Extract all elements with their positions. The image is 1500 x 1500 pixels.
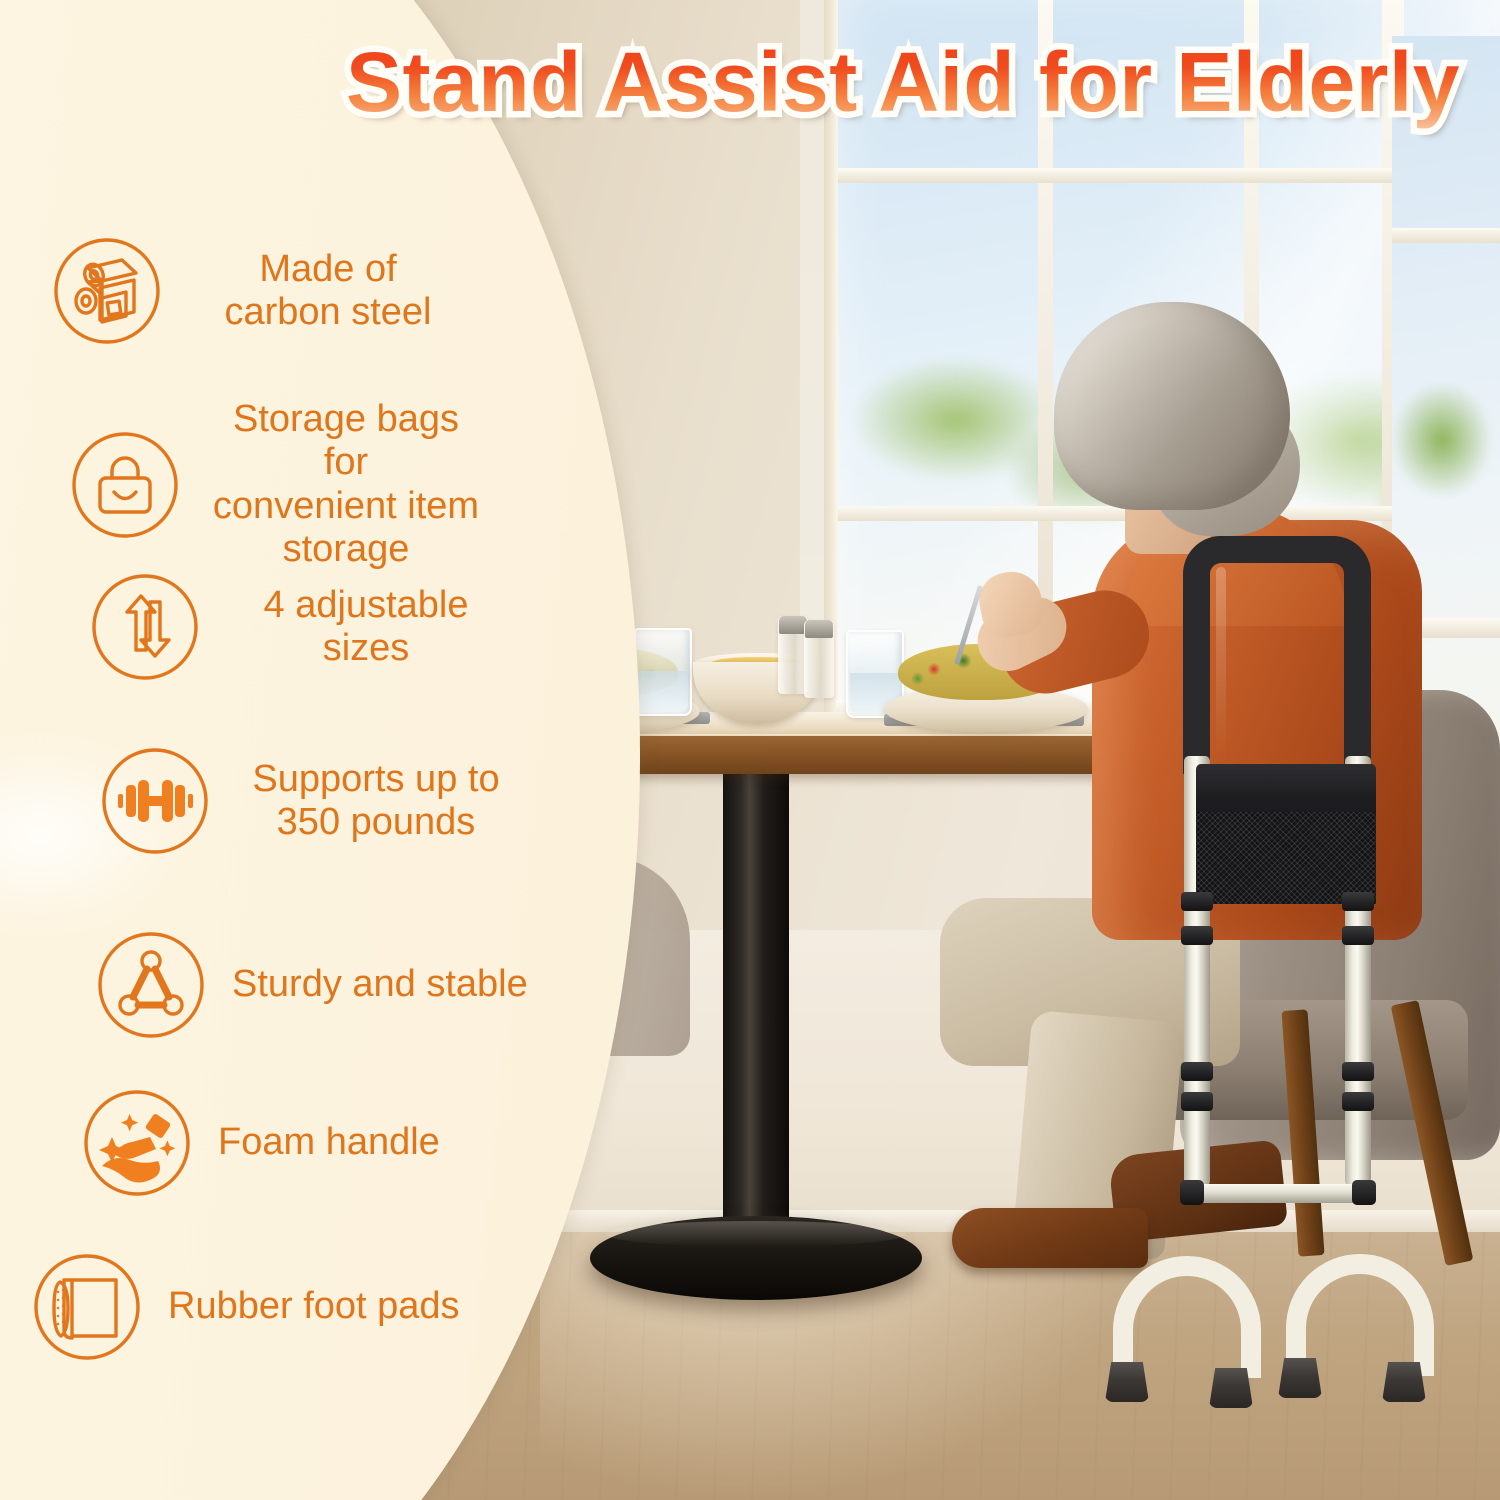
device-foam-handle <box>1183 536 1371 774</box>
device-clamp <box>1181 1062 1213 1081</box>
feature-item: Sturdy and stable <box>92 926 552 1044</box>
feature-item: Storage bags forconvenient itemstorage <box>66 398 486 571</box>
foam-hand-icon <box>78 1084 196 1202</box>
feature-label: Rubber foot pads <box>146 1285 498 1328</box>
device-clamp <box>1181 1092 1213 1111</box>
feature-label: Storage bags forconvenient itemstorage <box>184 398 486 571</box>
table-column <box>723 772 789 1242</box>
device-crossbar-joint <box>1352 1180 1376 1205</box>
feature-label: 4 adjustablesizes <box>204 584 506 671</box>
device-clamp <box>1342 1062 1374 1081</box>
dumbbell-icon <box>96 742 214 860</box>
person-shoe-front <box>952 1208 1148 1268</box>
device-rubber-foot <box>1382 1362 1426 1402</box>
device-pocket-mesh <box>1196 812 1376 904</box>
device-crossbar-joint <box>1180 1180 1204 1205</box>
table-base-highlight <box>606 1221 906 1247</box>
tripod-stability-icon <box>92 926 210 1044</box>
rubber-mat-icon <box>28 1248 146 1366</box>
device-clamp <box>1342 892 1374 911</box>
salt-shaker <box>804 620 834 698</box>
feature-item: Rubber foot pads <box>28 1248 498 1366</box>
feature-item: Supports up to350 pounds <box>96 742 516 860</box>
device-clamp <box>1181 926 1213 945</box>
device-crossbar <box>1193 1184 1373 1203</box>
steel-tubes-icon <box>48 232 166 350</box>
feature-item: Made ofcarbon steel <box>48 232 468 350</box>
feature-label: Supports up to350 pounds <box>214 758 516 845</box>
feature-item: Foam handle <box>78 1084 498 1202</box>
feature-label: Made ofcarbon steel <box>166 248 468 335</box>
feature-item: 4 adjustablesizes <box>86 568 506 686</box>
product-infographic: Made ofcarbon steel Storage bags forconv… <box>0 0 1500 1500</box>
feature-label: Sturdy and stable <box>210 963 552 1006</box>
side-window-trees <box>1392 330 1500 560</box>
person-hair <box>1054 302 1290 510</box>
device-rubber-foot <box>1278 1358 1322 1398</box>
device-clamp <box>1342 1092 1374 1111</box>
device-clamp <box>1342 926 1374 945</box>
water-glass-left <box>634 628 692 716</box>
device-rubber-foot <box>1209 1368 1253 1408</box>
up-down-arrows-icon <box>86 568 204 686</box>
device-clamp <box>1181 892 1213 911</box>
feature-list: Made ofcarbon steel Storage bags forconv… <box>0 0 560 1500</box>
page-title-fill: Stand Assist Aid for Elderly <box>346 34 1460 131</box>
device-rubber-foot <box>1105 1362 1149 1402</box>
feature-label: Foam handle <box>196 1121 498 1164</box>
side-window-mullion <box>1392 228 1500 243</box>
storage-bag-icon <box>66 426 184 544</box>
